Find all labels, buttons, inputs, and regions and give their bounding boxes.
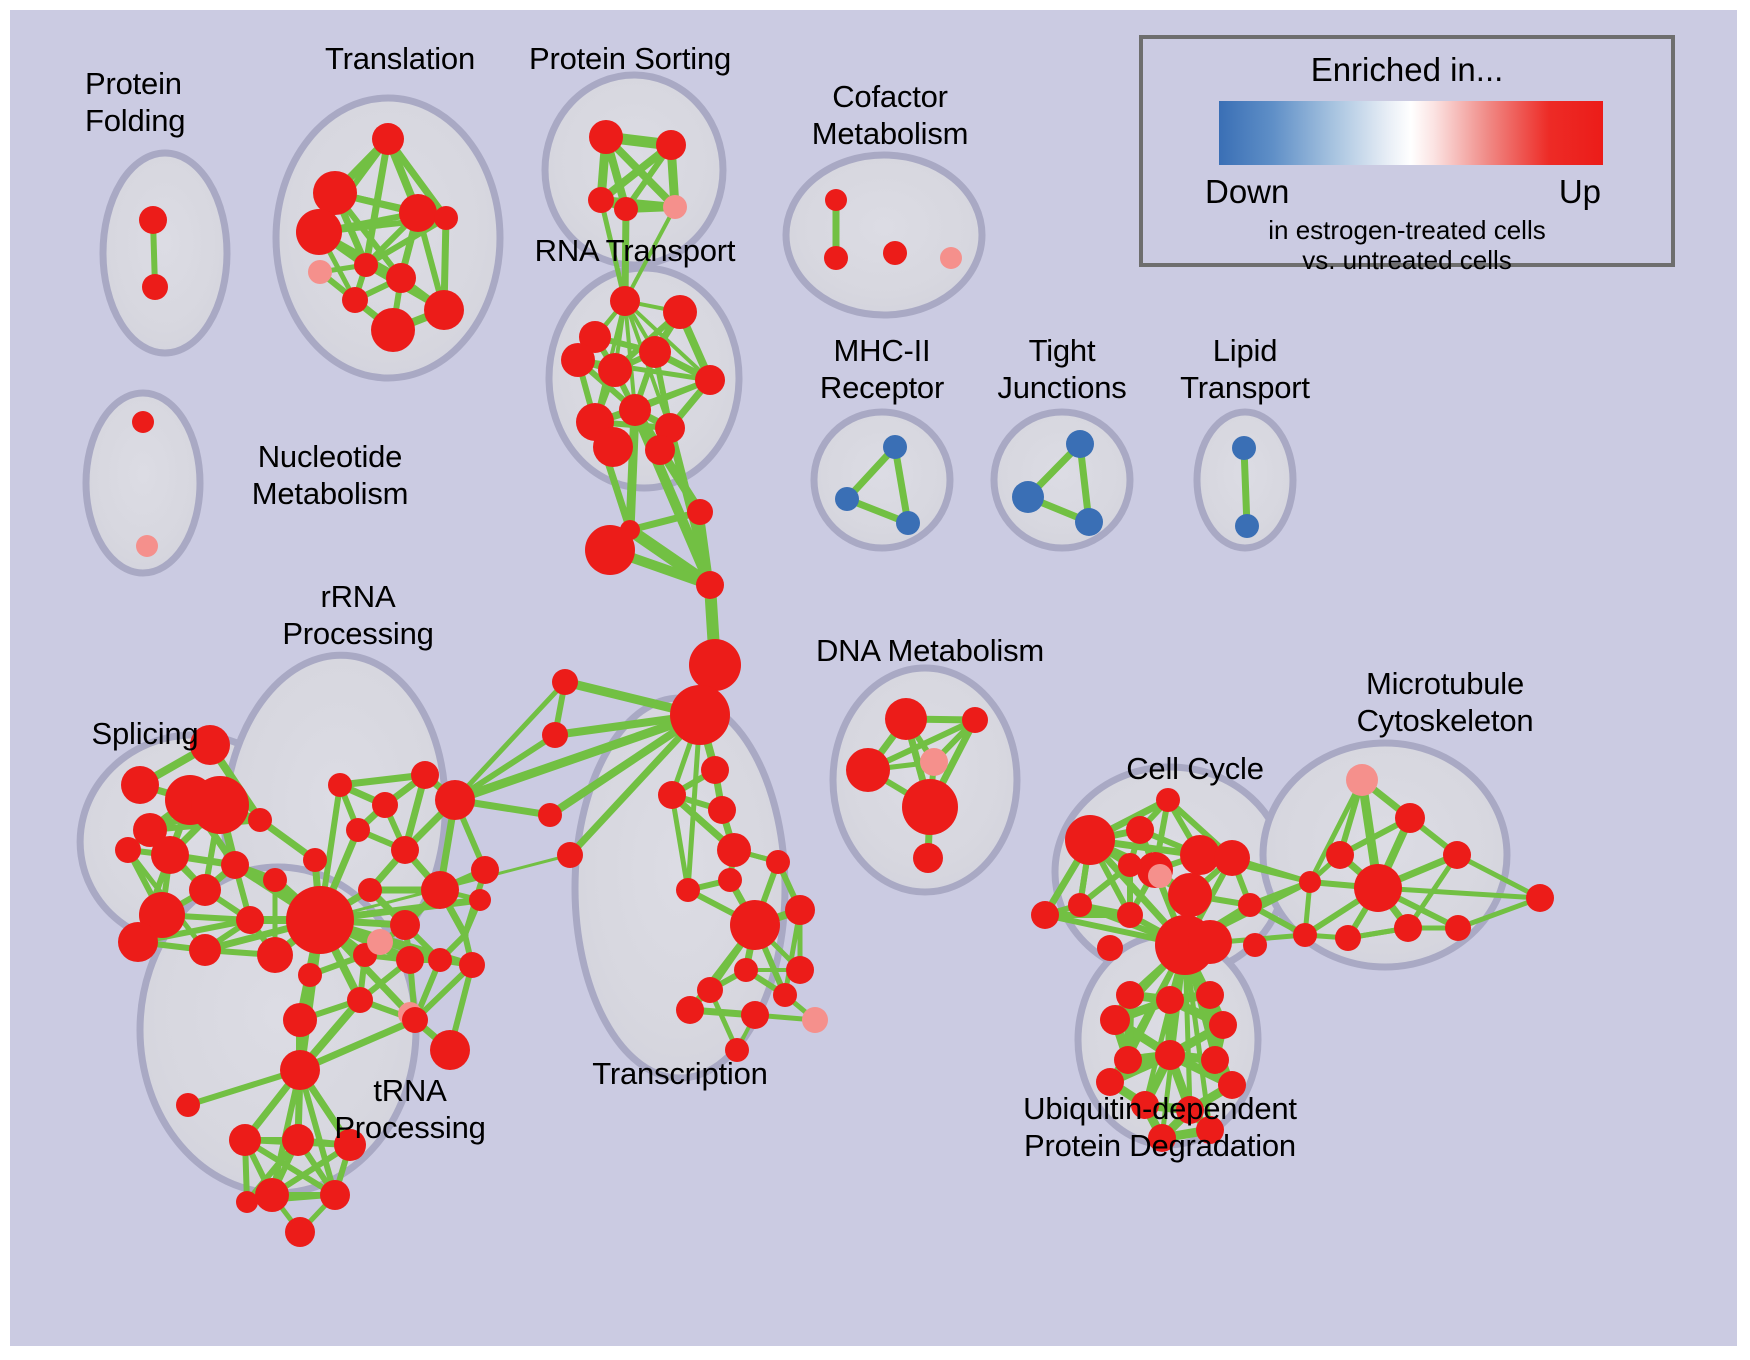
cluster-label-microtubule: Microtubule Cytoskeleton bbox=[1300, 665, 1590, 739]
cluster-label-ubiquitin: Ubiquitin-dependent Protein Degradation bbox=[985, 1090, 1335, 1164]
cluster-label-tight-junctions: Tight Junctions bbox=[962, 332, 1162, 406]
legend-title: Enriched in... bbox=[1143, 51, 1671, 89]
cluster-label-trna-processing: tRNA Processing bbox=[310, 1072, 510, 1146]
legend-low-label: Down bbox=[1205, 173, 1289, 211]
hull-tight-junctions bbox=[994, 412, 1130, 548]
cluster-label-splicing: Splicing bbox=[55, 715, 235, 752]
legend-color-bar bbox=[1219, 101, 1603, 165]
legend-caption-line1: in estrogen-treated cells bbox=[1143, 215, 1671, 246]
cluster-label-lipid-transport: Lipid Transport bbox=[1145, 332, 1345, 406]
cluster-label-protein-folding: Protein Folding bbox=[85, 65, 285, 139]
cluster-label-transcription: Transcription bbox=[570, 1055, 790, 1092]
hull-cofactor-metabolism bbox=[786, 155, 982, 315]
cluster-label-nucleotide-metabolism: Nucleotide Metabolism bbox=[205, 438, 455, 512]
legend-high-label: Up bbox=[1559, 173, 1601, 211]
cluster-label-dna-metabolism: DNA Metabolism bbox=[800, 632, 1060, 669]
hull-protein-folding bbox=[103, 153, 227, 353]
cluster-label-translation: Translation bbox=[290, 40, 510, 77]
cluster-label-cell-cycle: Cell Cycle bbox=[1085, 750, 1305, 787]
hull-mhc-ii-receptor bbox=[814, 412, 950, 548]
network-canvas: .hull{fill:url(#cg);stroke:#a9a9c4;strok… bbox=[10, 10, 1737, 1346]
cluster-label-cofactor-metabolism: Cofactor Metabolism bbox=[770, 78, 1010, 152]
figure-stage: .hull{fill:url(#cg);stroke:#a9a9c4;strok… bbox=[0, 0, 1750, 1360]
cluster-label-mhc-ii-receptor: MHC-II Receptor bbox=[782, 332, 982, 406]
cluster-label-rrna-processing: rRNA Processing bbox=[258, 578, 458, 652]
legend-caption-line2: vs. untreated cells bbox=[1143, 245, 1671, 276]
legend-box: Enriched in... Down Up in estrogen-treat… bbox=[1139, 35, 1675, 267]
cluster-label-rna-transport: RNA Transport bbox=[510, 232, 760, 269]
cluster-label-protein-sorting: Protein Sorting bbox=[505, 40, 755, 77]
